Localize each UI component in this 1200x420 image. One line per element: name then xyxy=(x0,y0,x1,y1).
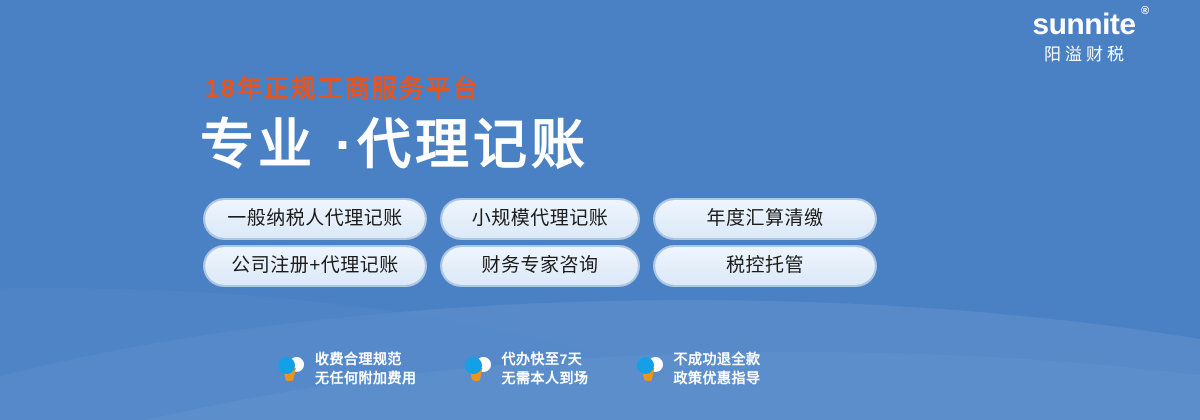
feature-text-pricing: 收费合理规范 无任何附加费用 xyxy=(315,350,417,388)
feature-line-1: 代办快至7天 xyxy=(502,350,589,369)
service-pill-tax-control-hosting[interactable]: 税控托管 xyxy=(655,247,875,285)
registered-trademark-icon: ® xyxy=(1141,6,1149,17)
banner-eyebrow: 18年正规工商服务平台 xyxy=(205,74,480,104)
service-pill-annual-tax-settlement[interactable]: 年度汇算清缴 xyxy=(655,200,875,238)
feature-item-speed: 代办快至7天 无需本人到场 xyxy=(463,350,589,388)
feature-line-1: 不成功退全款 xyxy=(674,350,761,369)
bullet-sphere-icon xyxy=(463,354,493,384)
service-pill-finance-expert-consulting[interactable]: 财务专家咨询 xyxy=(442,247,638,285)
feature-line-2: 政策优惠指导 xyxy=(674,369,761,388)
service-pill-row: 一般纳税人代理记账 小规模代理记账 年度汇算清缴 xyxy=(205,200,875,238)
feature-item-pricing: 收费合理规范 无任何附加费用 xyxy=(276,350,417,388)
banner-title: 专业 ·代理记账 xyxy=(200,112,589,178)
feature-line-2: 无需本人到场 xyxy=(502,369,589,388)
feature-text-speed: 代办快至7天 无需本人到场 xyxy=(502,350,589,388)
feature-line-2: 无任何附加费用 xyxy=(315,369,417,388)
service-pill-general-taxpayer-bookkeeping[interactable]: 一般纳税人代理记账 xyxy=(205,200,425,238)
brand-wordmark: sunnite ® xyxy=(1032,8,1135,42)
bullet-circle-shape xyxy=(637,357,654,374)
bullet-sphere-icon xyxy=(276,354,306,384)
brand-wordmark-text: sunnite xyxy=(1032,8,1135,41)
feature-list: 收费合理规范 无任何附加费用 代办快至7天 无需本人到场 不成功退全款 xyxy=(276,350,761,388)
bullet-circle-shape xyxy=(278,357,295,374)
feature-line-1: 收费合理规范 xyxy=(315,350,417,369)
service-pill-company-registration-bookkeeping[interactable]: 公司注册+代理记账 xyxy=(205,247,425,285)
feature-item-guarantee: 不成功退全款 政策优惠指导 xyxy=(635,350,761,388)
promo-banner: sunnite ® 阳溢财税 18年正规工商服务平台 专业 ·代理记账 一般纳税… xyxy=(0,0,1200,420)
service-pill-row: 公司注册+代理记账 财务专家咨询 税控托管 xyxy=(205,247,875,285)
service-pill-small-scale-bookkeeping[interactable]: 小规模代理记账 xyxy=(442,200,638,238)
service-pill-grid: 一般纳税人代理记账 小规模代理记账 年度汇算清缴 公司注册+代理记账 财务专家咨… xyxy=(205,200,875,294)
bullet-circle-shape xyxy=(465,357,482,374)
brand-chinese-name: 阳溢财税 xyxy=(994,44,1174,66)
feature-text-guarantee: 不成功退全款 政策优惠指导 xyxy=(674,350,761,388)
brand-logo[interactable]: sunnite ® 阳溢财税 xyxy=(994,8,1174,66)
bullet-sphere-icon xyxy=(635,354,665,384)
